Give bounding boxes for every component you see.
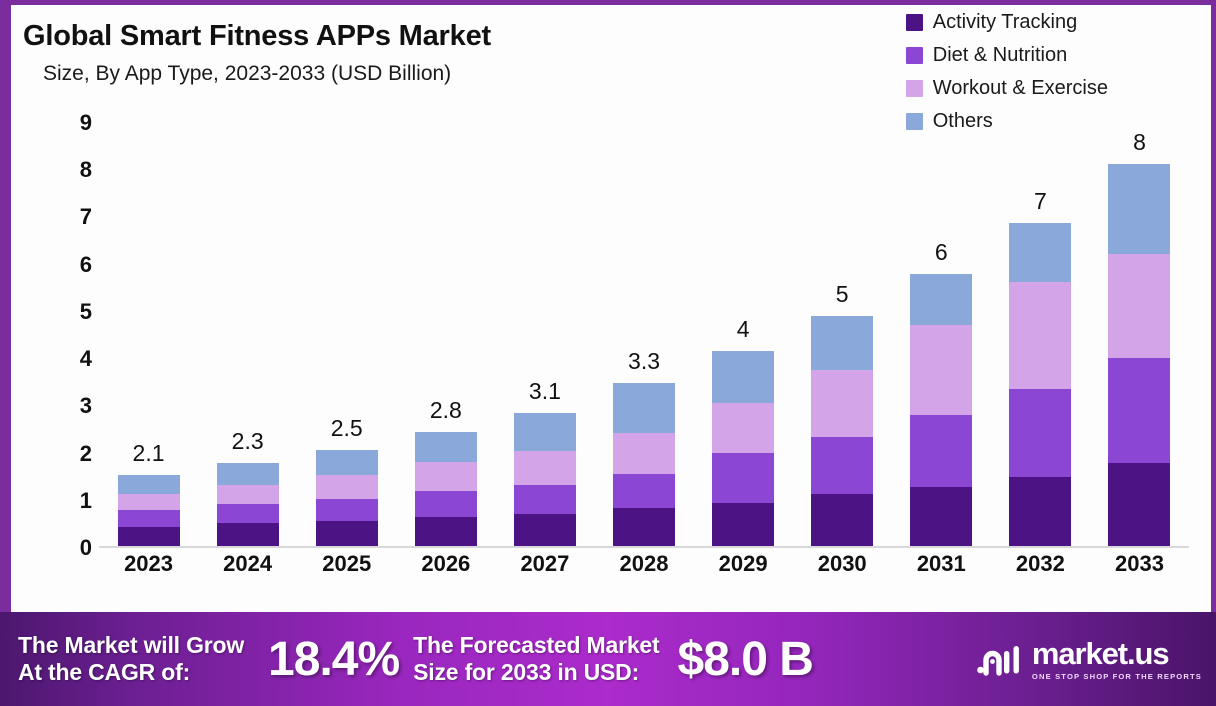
x-axis-tick: 2031 (892, 551, 991, 577)
logo-wordmark: market.us (1032, 638, 1202, 669)
x-axis-tick: 2024 (198, 551, 297, 577)
page-subtitle: Size, By App Type, 2023-2033 (USD Billio… (43, 62, 663, 86)
bar-value-label: 4 (737, 316, 750, 343)
stacked-bar[interactable]: 4 (712, 351, 774, 546)
bar-segment[interactable] (415, 517, 477, 546)
bar-segment[interactable] (613, 474, 675, 508)
x-axis-tick: 2033 (1090, 551, 1189, 577)
bar-segment[interactable] (1009, 223, 1071, 283)
bar-slot: 2.8 (396, 121, 495, 546)
stacked-bar[interactable]: 3.3 (613, 383, 675, 546)
x-axis: 2023202420252026202720282029203020312032… (99, 551, 1189, 577)
bar-slot: 2.5 (297, 121, 396, 546)
bar-slot: 3.3 (594, 121, 693, 546)
bar-segment[interactable] (910, 487, 972, 546)
bar-value-label: 2.5 (331, 415, 363, 442)
bar-segment[interactable] (217, 523, 279, 546)
bar-segment[interactable] (118, 527, 180, 546)
frame-border-left (0, 0, 11, 612)
stacked-bar[interactable]: 2.5 (316, 450, 378, 546)
bar-segment[interactable] (613, 383, 675, 434)
legend-label: Activity Tracking (933, 11, 1077, 34)
bar-segment[interactable] (910, 274, 972, 325)
legend-item[interactable]: Activity Tracking (906, 11, 1108, 34)
y-axis: 9876543210 (56, 123, 92, 548)
bar-segment[interactable] (613, 433, 675, 474)
bar-segment[interactable] (316, 450, 378, 476)
bar-segment[interactable] (811, 316, 873, 370)
bar-segment[interactable] (811, 494, 873, 546)
bar-segment[interactable] (217, 463, 279, 485)
y-axis-tick: 7 (56, 204, 92, 230)
x-axis-tick: 2025 (297, 551, 396, 577)
x-axis-tick: 2028 (594, 551, 693, 577)
bar-segment[interactable] (811, 437, 873, 494)
legend-item[interactable]: Diet & Nutrition (906, 44, 1108, 67)
forecast-value: $8.0 B (678, 632, 813, 687)
y-axis-tick: 5 (56, 299, 92, 325)
x-axis-tick: 2032 (991, 551, 1090, 577)
y-axis-tick: 8 (56, 157, 92, 183)
bar-segment[interactable] (415, 432, 477, 463)
bar-value-label: 7 (1034, 188, 1047, 215)
chart-legend: Activity TrackingDiet & NutritionWorkout… (906, 11, 1108, 133)
bar-segment[interactable] (910, 415, 972, 487)
bar-segment[interactable] (316, 499, 378, 522)
bar-segment[interactable] (118, 510, 180, 527)
x-axis-tick: 2029 (694, 551, 793, 577)
bar-segment[interactable] (712, 503, 774, 546)
bar-segment[interactable] (514, 514, 576, 546)
bar-segment[interactable] (514, 485, 576, 515)
bar-value-label: 5 (836, 281, 849, 308)
frame-border-right (1211, 0, 1216, 612)
plot-area: 2.12.32.52.83.13.345678 (99, 123, 1189, 548)
forecast-caption: The Forecasted Market Size for 2033 in U… (413, 632, 659, 686)
logo-text: market.us ONE STOP SHOP FOR THE REPORTS (1032, 638, 1202, 681)
x-axis-tick: 2023 (99, 551, 198, 577)
logo-tagline: ONE STOP SHOP FOR THE REPORTS (1032, 672, 1202, 681)
x-axis-tick: 2030 (793, 551, 892, 577)
stacked-bar[interactable]: 3.1 (514, 413, 576, 546)
legend-label: Diet & Nutrition (933, 44, 1068, 67)
bar-value-label: 2.1 (133, 440, 165, 467)
bar-value-label: 2.8 (430, 397, 462, 424)
chart-card: Global Smart Fitness APPs Market Size, B… (11, 5, 1211, 612)
legend-swatch-icon (906, 47, 923, 64)
forecast-caption-line1: The Forecasted Market (413, 632, 659, 659)
page-title: Global Smart Fitness APPs Market (23, 20, 663, 53)
bar-segment[interactable] (613, 508, 675, 546)
cagr-caption: The Market will Grow At the CAGR of: (18, 632, 244, 686)
stacked-bar[interactable]: 2.3 (217, 463, 279, 546)
y-axis-tick: 6 (56, 252, 92, 278)
stacked-bar[interactable]: 2.1 (118, 475, 180, 546)
chart-infographic: Global Smart Fitness APPs Market Size, B… (0, 0, 1216, 706)
title-block: Global Smart Fitness APPs Market Size, B… (23, 20, 663, 86)
bar-segment[interactable] (712, 453, 774, 504)
legend-item[interactable]: Workout & Exercise (906, 77, 1108, 100)
bar-segment[interactable] (415, 491, 477, 517)
y-axis-tick: 9 (56, 110, 92, 136)
y-axis-tick: 0 (56, 535, 92, 561)
bar-segment[interactable] (514, 413, 576, 451)
x-axis-tick: 2027 (495, 551, 594, 577)
bar-slot: 2.3 (198, 121, 297, 546)
bar-segment[interactable] (1009, 477, 1071, 546)
bar-segment[interactable] (910, 325, 972, 414)
bar-segment[interactable] (1009, 389, 1071, 477)
bar-slot: 3.1 (495, 121, 594, 546)
bar-segment[interactable] (514, 451, 576, 485)
bar-value-label: 3.1 (529, 378, 561, 405)
y-axis-tick: 4 (56, 346, 92, 372)
bar-segment[interactable] (415, 462, 477, 491)
y-axis-tick: 3 (56, 393, 92, 419)
bar-segment[interactable] (316, 521, 378, 546)
cagr-caption-line2: At the CAGR of: (18, 659, 244, 686)
bar-value-label: 3.3 (628, 348, 660, 375)
bar-segment[interactable] (316, 475, 378, 499)
stacked-bar[interactable]: 2.8 (415, 432, 477, 546)
bar-slot: 6 (892, 121, 991, 546)
bar-segment[interactable] (1108, 164, 1170, 254)
legend-label: Workout & Exercise (933, 77, 1108, 100)
stacked-bar[interactable]: 8 (1108, 164, 1170, 546)
x-axis-tick: 2026 (396, 551, 495, 577)
bar-value-label: 6 (935, 239, 948, 266)
bar-segment[interactable] (217, 504, 279, 523)
bar-slot: 7 (991, 121, 1090, 546)
bar-value-label: 8 (1133, 129, 1146, 156)
bottom-banner: The Market will Grow At the CAGR of: 18.… (0, 612, 1216, 706)
stacked-bar[interactable]: 6 (910, 274, 972, 546)
cagr-caption-line1: The Market will Grow (18, 632, 244, 659)
legend-swatch-icon (906, 14, 923, 31)
market-us-logo[interactable]: market.us ONE STOP SHOP FOR THE REPORTS (977, 638, 1202, 681)
bar-segment[interactable] (712, 403, 774, 453)
bar-slot: 2.1 (99, 121, 198, 546)
bar-value-label: 2.3 (232, 428, 264, 455)
bar-segment[interactable] (217, 485, 279, 504)
y-axis-tick: 2 (56, 441, 92, 467)
forecast-caption-line2: Size for 2033 in USD: (413, 659, 659, 686)
bar-segment[interactable] (1108, 463, 1170, 546)
plot-wrapper: 9876543210 2.12.32.52.83.13.345678 20232… (11, 123, 1211, 603)
bar-segment[interactable] (811, 370, 873, 437)
y-axis-tick: 1 (56, 488, 92, 514)
bar-slot: 4 (694, 121, 793, 546)
bar-segment[interactable] (1009, 282, 1071, 389)
bar-segment[interactable] (1108, 358, 1170, 463)
market-us-logo-icon (977, 640, 1023, 678)
stacked-bar[interactable]: 7 (1009, 223, 1071, 546)
bar-segment[interactable] (118, 494, 180, 511)
bar-segment[interactable] (118, 475, 180, 493)
bar-slot: 8 (1090, 121, 1189, 546)
stacked-bar[interactable]: 5 (811, 316, 873, 546)
bar-segment[interactable] (712, 351, 774, 402)
bar-slot: 5 (793, 121, 892, 546)
cagr-value: 18.4% (268, 632, 399, 687)
bar-group: 2.12.32.52.83.13.345678 (99, 121, 1189, 546)
bar-segment[interactable] (1108, 254, 1170, 358)
legend-swatch-icon (906, 80, 923, 97)
